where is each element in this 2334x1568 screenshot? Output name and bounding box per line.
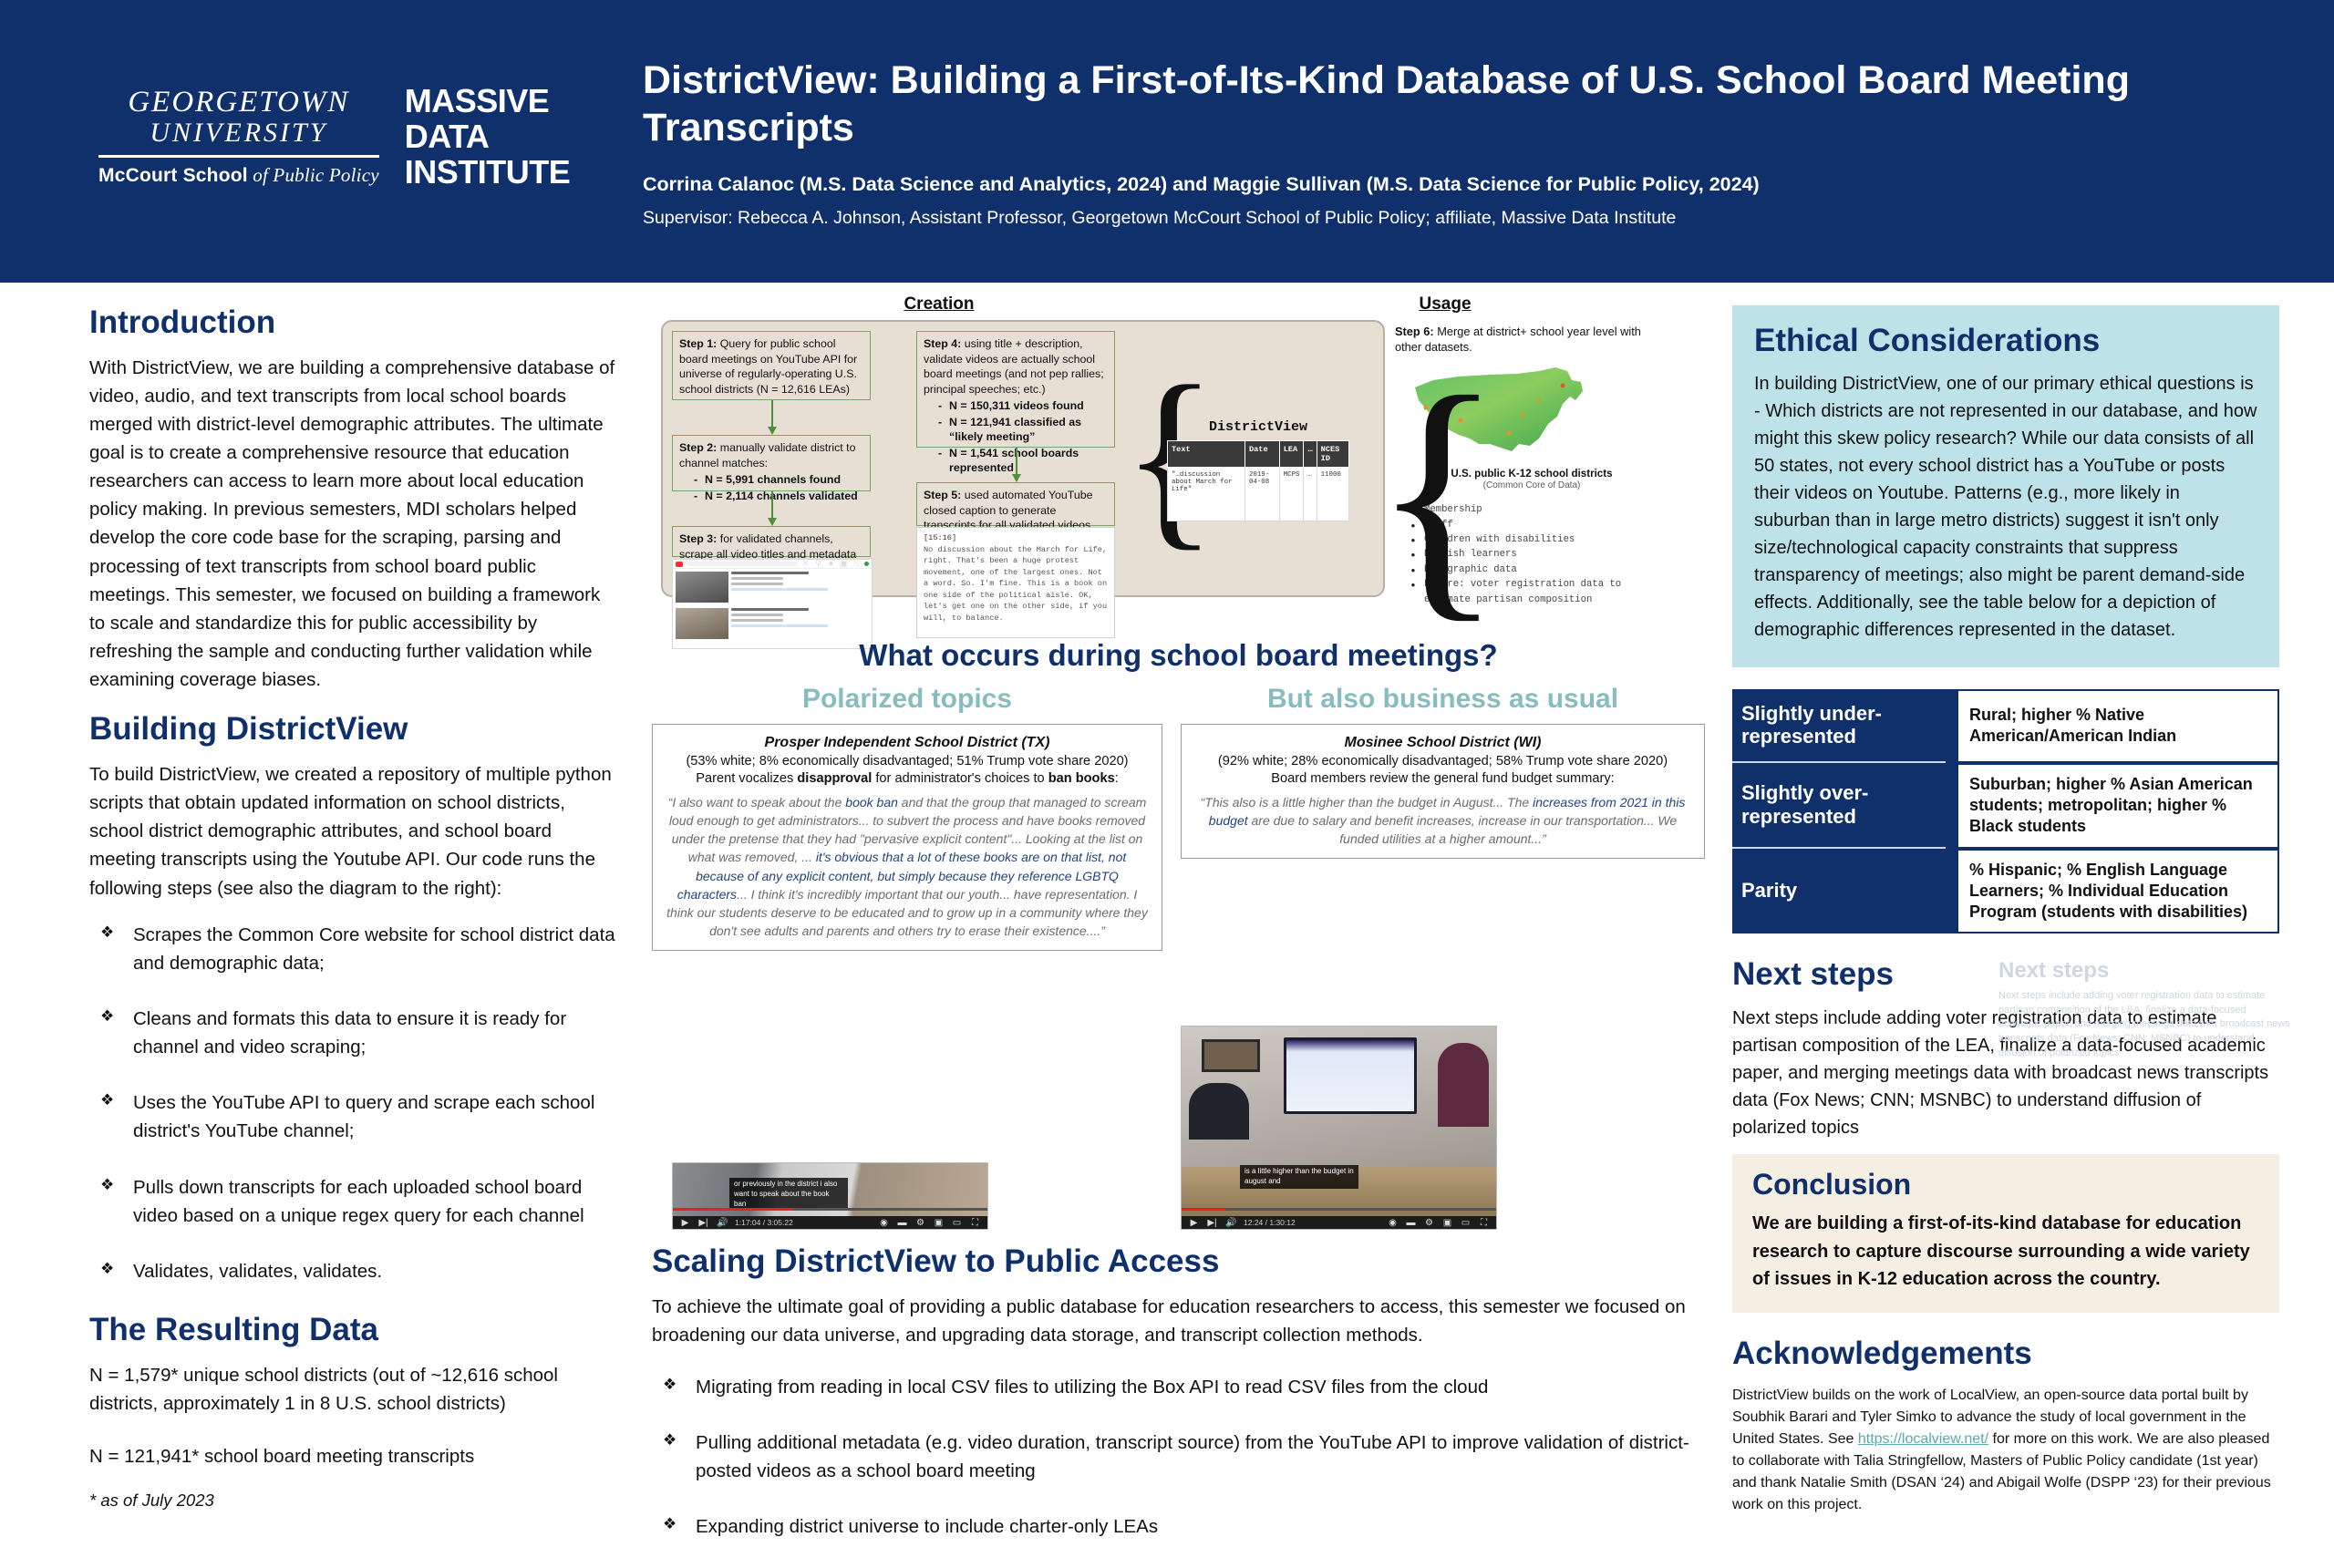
representation-table: Slightly under-represented Rural; higher… — [1732, 689, 2279, 934]
massive-data-institute-logo: MASSIVE DATA INSTITUTE — [405, 84, 571, 191]
mosinee-lead-in: Board members review the general fund bu… — [1193, 770, 1692, 788]
cell-lea: MCPS — [1279, 468, 1304, 521]
mdi-line-1: MASSIVE — [405, 84, 571, 119]
mosinee-video-screenshot[interactable]: is a little higher than the budget in au… — [1181, 1026, 1497, 1230]
close-icon: ✕ — [800, 559, 811, 569]
logo-divider — [98, 155, 379, 158]
next-icon[interactable]: ▶| — [698, 1218, 708, 1228]
conclusion-body: We are building a first-of-its-kind data… — [1752, 1210, 2259, 1293]
video-channel-line — [731, 583, 783, 585]
step-1-label: Step 1: — [679, 337, 717, 350]
video-views-line — [731, 577, 783, 580]
georgetown-logo: GEORGETOWN UNIVERSITY McCourt School of … — [98, 87, 379, 187]
video-progress-bar[interactable] — [673, 1208, 987, 1211]
cell-text: "…discussion about March for Life" — [1168, 468, 1245, 521]
prosper-lead-bold1: disapproval — [797, 771, 872, 786]
georgetown-line-1: GEORGETOWN — [98, 87, 379, 119]
gear-icon[interactable]: ⚙ — [915, 1218, 925, 1228]
mccourt-italic: of Public Policy — [248, 164, 379, 186]
poster-supervisor: Supervisor: Rebecca A. Johnson, Assistan… — [643, 207, 2193, 230]
business-as-usual-subheading: But also business as usual — [1181, 684, 1705, 715]
next-steps-heading: Next steps — [1732, 957, 2279, 993]
mosinee-quote-text: “This also is a little higher than the b… — [1193, 793, 1692, 848]
introduction-body: With DistrictView, we are building a com… — [89, 354, 618, 695]
districtview-table-block: DistrictView Text Date LEA … NCES ID — [1167, 419, 1349, 521]
video-thumbnail — [676, 608, 728, 639]
column-header-ellipsis: … — [1304, 441, 1317, 468]
column-header-text: Text — [1168, 441, 1245, 468]
flow-arrow-2-3 — [771, 491, 773, 519]
section-next-steps: Next steps Next steps Next steps include… — [1732, 957, 2279, 1142]
presenter-silhouette — [1438, 1043, 1489, 1127]
right-column: Ethical Considerations In building Distr… — [1732, 305, 2279, 1516]
video-description-line — [731, 588, 828, 591]
mosinee-quote-p2: are due to salary and benefit increases,… — [1248, 813, 1678, 846]
closed-caption-icon[interactable]: ▬ — [1406, 1218, 1416, 1228]
mosinee-district-name: Mosinee School District (WI) — [1193, 735, 1692, 751]
video-metadata — [731, 572, 869, 603]
cell-ellipsis: … — [1304, 468, 1317, 521]
scaling-bullet-list: Migrating from reading in local CSV file… — [652, 1373, 1705, 1542]
fullscreen-icon[interactable]: ⛶ — [1479, 1218, 1489, 1228]
youtube-channel-screenshot: ✕ ⚲ ● ▣ ☉ — [672, 559, 873, 649]
transcript-timestamp: [15:16] — [924, 532, 1108, 544]
prosper-lead-in: Parent vocalizes disapproval for adminis… — [665, 770, 1150, 788]
list-item: N = 150,311 videos found — [938, 398, 1108, 414]
table-spacer — [1946, 849, 1957, 934]
mosinee-quote-box: Mosinee School District (WI) (92% white;… — [1181, 724, 1705, 859]
autoplay-icon[interactable]: ◉ — [1388, 1218, 1398, 1228]
wall-photo-frame — [1202, 1039, 1260, 1072]
transcript-body: No discussion about the March for Life, … — [924, 544, 1108, 624]
flow-step-3: Step 3: for validated channels, scrape a… — [672, 526, 871, 557]
video-upload-icon: ▣ — [839, 559, 849, 569]
prosper-lead-mid: for administrator's choices to — [872, 771, 1048, 786]
flow-step-5: Step 5: used automated YouTube closed ca… — [916, 482, 1115, 526]
list-item: Pulling additional metadata (e.g. video … — [652, 1429, 1705, 1485]
video-controls[interactable]: ▶ ▶| 🔊 1:17:04 / 3:05:22 ◉ ▬ ⚙ ▣ ▭ ⛶ — [673, 1216, 987, 1229]
list-item: Cleans and formats this data to ensure i… — [89, 1005, 618, 1061]
video-title-line — [731, 608, 809, 611]
list-item: Uses the YouTube API to query and scrape… — [89, 1088, 618, 1145]
play-icon[interactable]: ▶ — [680, 1218, 690, 1228]
poster-header: GEORGETOWN UNIVERSITY McCourt School of … — [0, 0, 2334, 283]
mccourt-school-label: McCourt School of Public Policy — [98, 164, 379, 187]
table-header-row: Text Date LEA … NCES ID — [1168, 441, 1349, 468]
flowchart-usage-label: Usage — [1381, 294, 1509, 315]
column-header-lea: LEA — [1279, 441, 1304, 468]
flow-arrow-4-5 — [1016, 448, 1017, 475]
step-3-label: Step 3: — [679, 532, 717, 545]
search-input — [686, 562, 798, 566]
next-icon[interactable]: ▶| — [1207, 1218, 1217, 1228]
list-item — [673, 605, 872, 642]
districtview-table: Text Date LEA … NCES ID "…discussion abo… — [1167, 440, 1349, 521]
flow-step-2: Step 2: manually validate district to ch… — [672, 435, 871, 491]
list-item: Migrating from reading in local CSV file… — [652, 1373, 1705, 1401]
video-timestamp: 12:24 / 1:30:12 — [1244, 1218, 1296, 1227]
volume-icon[interactable]: 🔊 — [1225, 1218, 1235, 1228]
section-ethical-considerations: Ethical Considerations In building Distr… — [1732, 305, 2279, 667]
next-steps-body: Next steps include adding voter registra… — [1732, 1005, 2279, 1141]
theater-mode-icon[interactable]: ▭ — [952, 1218, 962, 1228]
pipeline-flowchart: Creation Usage Step 1: Query for public … — [652, 305, 1705, 606]
prosper-quote-text: “I also want to speak about the book ban… — [665, 793, 1150, 940]
localview-link[interactable]: https://localview.net/ — [1858, 1431, 1988, 1447]
flow-step-4: Step 4: using title + description, valid… — [916, 331, 1115, 448]
transcript-sample-note: [15:16] No discussion about the March fo… — [916, 527, 1115, 638]
row-value-parity: % Hispanic; % English Language Learners;… — [1957, 849, 2279, 934]
list-item: Validates, validates, validates. — [89, 1257, 618, 1285]
table-row: "…discussion about March for Life" 2019-… — [1168, 468, 1349, 521]
resulting-data-heading: The Resulting Data — [89, 1313, 618, 1348]
autoplay-icon[interactable]: ◉ — [879, 1218, 889, 1228]
table-row: Slightly under-represented Rural; higher… — [1732, 689, 2279, 764]
prosper-quote-box: Prosper Independent School District (TX)… — [652, 724, 1162, 951]
prosper-quote-p3: ... I think it's incredibly important th… — [666, 887, 1148, 938]
title-block: DistrictView: Building a First-of-Its-Ki… — [643, 57, 2193, 230]
search-icon: ⚲ — [813, 559, 823, 569]
video-progress-bar[interactable] — [1182, 1208, 1496, 1211]
row-label-over-represented: Slightly over-represented — [1732, 763, 1946, 848]
step-2-label: Step 2: — [679, 441, 717, 454]
flowchart-creation-label: Creation — [866, 294, 1012, 315]
flow-arrow-1-2 — [771, 400, 773, 428]
left-column: Introduction With DistrictView, we are b… — [89, 305, 618, 1538]
scaling-heading: Scaling DistrictView to Public Access — [652, 1244, 1705, 1280]
institution-logos: GEORGETOWN UNIVERSITY McCourt School of … — [98, 84, 570, 191]
video-caption-overlay: or previously in the district i also wan… — [729, 1178, 848, 1211]
list-item: Expanding district universe to include c… — [652, 1512, 1705, 1541]
step-5-label: Step 5: — [924, 489, 961, 501]
poster-canvas: GEORGETOWN UNIVERSITY McCourt School of … — [0, 0, 2334, 1556]
poster-authors: Corrina Calanoc (M.S. Data Science and A… — [643, 172, 2193, 198]
table-spacer — [1946, 763, 1957, 848]
districtview-table-title: DistrictView — [1167, 419, 1349, 435]
prosper-lead-post: : — [1115, 771, 1119, 786]
list-item: N = 2,114 channels validated — [694, 489, 863, 504]
youtube-logo-icon — [676, 562, 683, 567]
meetings-question-heading: What occurs during school board meetings… — [652, 638, 1705, 673]
fullscreen-icon[interactable]: ⛶ — [970, 1218, 980, 1228]
cell-nces-id: 11000 — [1317, 468, 1348, 521]
video-thumbnail — [676, 572, 728, 603]
section-acknowledgements: Acknowledgements DistrictView builds on … — [1732, 1336, 2279, 1516]
board-member-silhouette — [1189, 1083, 1249, 1140]
polarized-topics-subheading: Polarized topics — [652, 684, 1162, 715]
mccourt-bold: McCourt School — [98, 165, 248, 186]
prosper-demographics: (53% white; 8% economically disadvantage… — [665, 753, 1150, 770]
flow-step-1: Step 1: Query for public school board me… — [672, 331, 871, 400]
mdi-line-3: INSTITUTE — [405, 155, 571, 191]
cell-date: 2019-04-08 — [1244, 468, 1279, 521]
video-controls[interactable]: ▶ ▶| 🔊 12:24 / 1:30:12 ◉ ▬ ⚙ ▣ ▭ ⛶ — [1182, 1216, 1496, 1229]
list-item: N = 5,991 channels found — [694, 472, 863, 488]
list-item: N = 121,941 classified as “likely meetin… — [938, 415, 1108, 445]
mosinee-demographics: (92% white; 28% economically disadvantag… — [1193, 753, 1692, 770]
introduction-heading: Introduction — [89, 305, 618, 341]
prosper-quote-p1: “I also want to speak about the — [668, 795, 846, 810]
gear-icon[interactable]: ⚙ — [1424, 1218, 1434, 1228]
theater-mode-icon[interactable]: ▭ — [1461, 1218, 1471, 1228]
video-timestamp: 1:17:04 / 3:05:22 — [735, 1218, 793, 1227]
acknowledgements-heading: Acknowledgements — [1732, 1336, 2279, 1372]
table-spacer — [1946, 689, 1957, 764]
ethics-heading: Ethical Considerations — [1754, 324, 2257, 359]
youtube-toolbar: ✕ ⚲ ● ▣ ☉ — [673, 560, 872, 569]
avatar — [864, 562, 869, 566]
step-4-label: Step 4: — [924, 337, 961, 350]
column-header-date: Date — [1244, 441, 1279, 468]
section-building-districtview: Building DistrictView To build DistrictV… — [89, 712, 618, 1285]
prosper-lead-pre: Parent vocalizes — [696, 771, 797, 786]
volume-icon[interactable]: 🔊 — [717, 1218, 727, 1228]
georgetown-wordmark: GEORGETOWN UNIVERSITY — [98, 87, 379, 148]
list-item: N = 1,541 school boards represented — [938, 446, 1108, 476]
column-header-nces-id: NCES ID — [1317, 441, 1348, 468]
closed-caption-icon[interactable]: ▬ — [897, 1218, 907, 1228]
building-bullet-list: Scrapes the Common Core website for scho… — [89, 921, 618, 1285]
row-label-under-represented: Slightly under-represented — [1732, 689, 1946, 764]
prosper-lead-bold2: ban books — [1048, 771, 1115, 786]
list-item: Pulls down transcripts for each uploaded… — [89, 1173, 618, 1230]
video-caption-overlay: is a little higher than the budget in au… — [1240, 1165, 1358, 1189]
polarized-topics-column: Polarized topics Prosper Independent Sch… — [652, 684, 1162, 951]
mdi-line-2: DATA — [405, 119, 571, 155]
microphone-icon: ● — [826, 559, 836, 569]
video-views-line — [731, 614, 783, 616]
building-heading: Building DistrictView — [89, 712, 618, 748]
section-introduction: Introduction With DistrictView, we are b… — [89, 305, 618, 694]
meeting-screen-display — [1284, 1037, 1417, 1114]
conclusion-heading: Conclusion — [1752, 1169, 2259, 1201]
poster-title: DistrictView: Building a First-of-Its-Ki… — [643, 57, 2193, 152]
table-row: Parity % Hispanic; % English Language Le… — [1732, 849, 2279, 934]
acknowledgements-body: DistrictView builds on the work of Local… — [1732, 1385, 2279, 1516]
meetings-question-block: What occurs during school board meetings… — [652, 638, 1705, 673]
row-value-over-represented: Suburban; higher % Asian American studen… — [1957, 763, 2279, 848]
prosper-quote-highlight1: book ban — [845, 795, 898, 810]
row-value-under-represented: Rural; higher % Native American/American… — [1957, 689, 2279, 764]
georgetown-line-2: UNIVERSITY — [98, 119, 379, 148]
section-conclusion: Conclusion We are building a first-of-it… — [1732, 1154, 2279, 1313]
video-description-line — [731, 624, 828, 627]
scaling-body: To achieve the ultimate goal of providin… — [652, 1293, 1705, 1349]
ethics-body: In building DistrictView, one of our pri… — [1754, 370, 2257, 644]
resulting-data-districts: N = 1,579* unique school districts (out … — [89, 1361, 618, 1419]
miniplayer-icon[interactable]: ▣ — [1442, 1218, 1452, 1228]
table-row: Slightly over-represented Suburban; high… — [1732, 763, 2279, 848]
section-resulting-data: The Resulting Data N = 1,579* unique sch… — [89, 1313, 618, 1513]
business-as-usual-column: But also business as usual Mosinee Schoo… — [1181, 684, 1705, 859]
row-label-parity: Parity — [1732, 849, 1946, 934]
play-icon[interactable]: ▶ — [1189, 1218, 1199, 1228]
resulting-data-footnote: * as of July 2023 — [89, 1488, 618, 1514]
resulting-data-transcripts: N = 121,941* school board meeting transc… — [89, 1442, 618, 1471]
step-6-label: Step 6: — [1395, 325, 1434, 338]
video-metadata — [731, 608, 869, 639]
list-item — [673, 569, 872, 605]
video-title-line — [731, 572, 809, 574]
building-body: To build DistrictView, we created a repo… — [89, 760, 618, 903]
prosper-video-screenshot[interactable]: or previously in the district i also wan… — [672, 1162, 988, 1230]
section-scaling: Scaling DistrictView to Public Access To… — [652, 1244, 1705, 1568]
mosinee-quote-p1: “This also is a little higher than the b… — [1201, 795, 1533, 810]
merge-brace-right: { — [1372, 356, 1503, 629]
video-channel-line — [731, 619, 783, 622]
prosper-district-name: Prosper Independent School District (TX) — [665, 735, 1150, 751]
bell-icon: ☉ — [852, 559, 862, 569]
list-item: Scrapes the Common Core website for scho… — [89, 921, 618, 977]
miniplayer-icon[interactable]: ▣ — [934, 1218, 944, 1228]
